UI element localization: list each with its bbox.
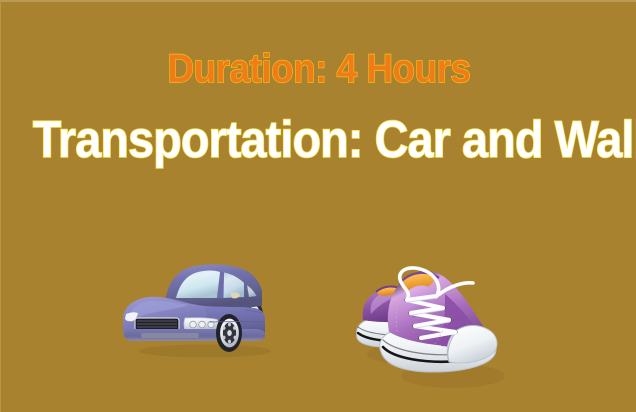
duration-headline: Duration: 4 Hours — [26, 46, 611, 92]
car-front-wheel — [216, 314, 242, 352]
sneaker-icon — [345, 234, 521, 392]
car-lower-intake — [141, 333, 199, 338]
transportation-headline: Transportation: Car and Walk — [33, 110, 605, 170]
sneaker-front — [380, 268, 497, 372]
sneakers-illustration — [345, 234, 521, 392]
car-icon — [113, 248, 289, 360]
slide-canvas: Duration: 4 Hours Transportation: Car an… — [0, 0, 636, 412]
car-headlight-right — [184, 318, 219, 331]
car-illustration — [113, 248, 289, 360]
